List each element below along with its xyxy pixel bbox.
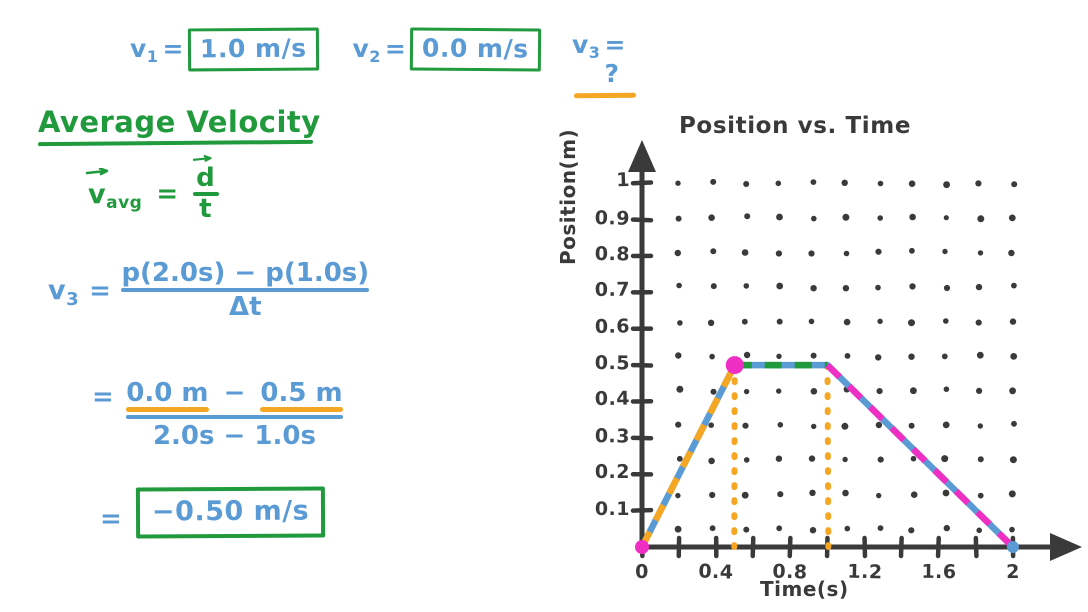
step1-expression: v 3 = p(2.0s) − p(1.0s) Δt (48, 258, 369, 322)
grid-dot (710, 525, 716, 531)
grid-dot (710, 179, 716, 185)
grid-dot (676, 386, 683, 393)
grid-dot (942, 249, 947, 254)
grid-dot (809, 455, 815, 461)
final-result: = −0.50 m/s (100, 487, 326, 538)
grid-dot (908, 527, 914, 533)
step2-fraction-bar (126, 415, 342, 419)
grid-dot (843, 285, 849, 291)
v2-value-box: 0.0 m/s (410, 27, 541, 71)
grid-dot (744, 213, 750, 219)
v1-value: 1.0 m/s (200, 34, 307, 64)
grid-dot (1010, 353, 1017, 360)
v2-subscript: 2 (369, 47, 381, 66)
step1-v-label: v (48, 275, 66, 306)
grid-dot (708, 214, 715, 221)
grid-dot (708, 422, 714, 428)
grid-dot (709, 354, 715, 360)
grid-dot (676, 216, 682, 222)
result-value: −0.50 m/s (152, 496, 309, 528)
x-tick (938, 538, 939, 556)
grid-dot (808, 250, 814, 256)
grid-dot (710, 248, 716, 254)
grid-dot (944, 525, 950, 531)
grid-dot (744, 457, 750, 463)
vector-arrow-icon (193, 155, 213, 163)
grid-dot (909, 423, 915, 429)
y-tick-label: 0.2 (564, 461, 630, 483)
given-v1: v 1 = 1.0 m/s (130, 28, 318, 71)
grid-dot (909, 214, 916, 221)
grid-dot (675, 526, 682, 533)
v2-value: 0.0 m/s (422, 34, 529, 64)
grid-dot (976, 320, 982, 326)
grid-dot (1009, 215, 1016, 222)
grid-dot (975, 180, 981, 186)
grid-dot (943, 318, 949, 324)
y-tick-label: 0.5 (564, 352, 630, 375)
grid-dot (908, 354, 914, 360)
grid-dot (743, 527, 749, 533)
v1-equals: = (162, 34, 183, 63)
y-tick-label: 0.7 (564, 279, 630, 302)
solution-panel: v 1 = 1.0 m/s v 2 = 0.0 m/s v 3 = ? (0, 0, 560, 612)
step1-numerator: p(2.0s) − p(1.0s) (121, 258, 369, 288)
position-vs-time-chart: Position vs. Time Position(m) Time(s) (560, 105, 1088, 612)
grid-dot (1009, 527, 1015, 533)
grid-dot (877, 215, 883, 221)
x-tick-label: 0 (617, 561, 667, 583)
grid-dot (711, 283, 717, 289)
y-tick-label: 0.3 (564, 424, 630, 447)
x-tick-label: 0.8 (765, 560, 816, 584)
section-heading-text: Average Velocity (38, 105, 321, 139)
grid-dot (744, 352, 750, 358)
grid-dot (776, 214, 783, 221)
chart-dot-grid (675, 179, 1018, 534)
given-v2: v 2 = 0.0 m/s (352, 28, 540, 71)
grid-dot (942, 354, 948, 360)
grid-dot (675, 181, 680, 186)
grid-dot (1011, 181, 1017, 187)
grid-dot (976, 528, 982, 534)
step2-equals: = (92, 382, 114, 412)
grid-dot (978, 493, 984, 499)
grid-dot (675, 493, 680, 498)
grid-dot (878, 525, 884, 531)
grid-dot (777, 319, 783, 325)
step2-numerator-b: 0.5 m (260, 378, 342, 408)
step2-denominator: 2.0s − 1.0s (153, 421, 316, 451)
grid-dot (841, 423, 848, 430)
y-tick (633, 220, 651, 221)
grid-dot (708, 320, 714, 326)
grid-dot (876, 493, 881, 498)
grid-dot (842, 214, 849, 221)
grid-dot (742, 319, 748, 325)
step2-numerator-b-wrap: 0.5 m (260, 378, 342, 408)
grid-dot (978, 456, 984, 462)
grid-dot (876, 422, 882, 428)
y-tick-label: 0.9 (564, 206, 631, 230)
x-tick (753, 538, 754, 556)
grid-dot (809, 319, 815, 325)
grid-dot (742, 423, 748, 429)
given-values-row: v 1 = 1.0 m/s v 2 = 0.0 m/s (130, 28, 541, 71)
v1-subscript: 1 (147, 47, 159, 66)
d-term: d (193, 165, 218, 192)
x-tick (976, 538, 977, 556)
y-tick-label: 0.4 (564, 388, 630, 411)
v1-value-box: 1.0 m/s (188, 28, 319, 72)
guide-at-1.0s (827, 365, 828, 547)
grid-dot (742, 492, 749, 499)
grid-dot (743, 181, 749, 187)
grid-dot (943, 422, 950, 429)
grid-dot (776, 525, 782, 531)
grid-dot (944, 386, 950, 392)
grid-dot (778, 422, 784, 428)
grid-dot (676, 283, 682, 289)
y-tick-label: 0.8 (564, 243, 630, 266)
section-heading: Average Velocity (38, 105, 321, 145)
grid-dot (677, 456, 683, 462)
x-tick-label: 1.2 (839, 560, 889, 583)
end-marker (1007, 541, 1019, 553)
grid-dot (844, 251, 850, 257)
grid-dot (1010, 456, 1017, 463)
grid-dot (776, 283, 783, 290)
grid-dot (776, 354, 781, 359)
grid-dot (978, 423, 983, 428)
grid-dot (811, 388, 818, 395)
grid-dot (977, 215, 984, 222)
grid-dot (978, 250, 983, 255)
grid-dot (976, 388, 982, 394)
grid-dot (675, 422, 681, 428)
grid-dot (842, 457, 847, 462)
grid-dot (943, 490, 950, 497)
v1-label: v (130, 34, 147, 63)
step2-numerator-a-wrap: 0.0 m (126, 378, 208, 408)
avg-formula-numerator: d (196, 163, 215, 193)
grid-dot (878, 181, 884, 187)
grid-dot (742, 249, 749, 256)
grid-dot (877, 319, 882, 324)
average-velocity-formula: vavg = d t (88, 165, 219, 224)
grid-dot (810, 527, 816, 533)
grid-dot (1009, 490, 1016, 497)
grid-dot (911, 491, 918, 498)
grid-dot (776, 181, 782, 187)
grid-dot (1008, 250, 1014, 256)
grid-dot (941, 455, 948, 462)
v3-question: = ? (604, 30, 632, 88)
grid-dot (809, 490, 815, 496)
grid-dot (909, 283, 915, 289)
grid-dot (677, 320, 683, 326)
grid-dot (878, 457, 884, 463)
step2-fraction: 0.0 m − 0.5 m 2.0s − 1.0s (126, 378, 342, 451)
grid-dot (811, 353, 817, 359)
grid-dot (910, 387, 917, 394)
unknown-v3: v 3 = ? (572, 30, 636, 98)
avg-formula-denominator: t (199, 196, 212, 223)
grid-dot (777, 491, 783, 497)
v3-orange-underline (574, 93, 636, 99)
grid-dot (943, 181, 950, 188)
x-tick-label: 1.6 (914, 561, 964, 584)
y-tick-label: 0.6 (564, 315, 630, 338)
v3-label: v (572, 30, 589, 59)
grid-dot (909, 248, 915, 254)
grid-dot (810, 285, 816, 291)
x-tick-label: 2 (988, 561, 1038, 584)
grid-dot (976, 284, 982, 290)
grid-dot (1010, 318, 1016, 324)
grid-dot (709, 492, 715, 498)
v-avg-subscript: avg (106, 193, 142, 213)
step2-numerator-a: 0.0 m (126, 378, 208, 408)
grid-dot (877, 388, 883, 394)
origin-marker (635, 540, 649, 554)
grid-dot (944, 285, 950, 291)
step2-expression: = 0.0 m − 0.5 m 2.0s − 1.0s (92, 378, 343, 451)
y-tick-label: 0.1 (564, 498, 630, 520)
step2-orange-underline-a (126, 407, 208, 412)
section-heading-underline (38, 140, 313, 146)
grid-dot (842, 180, 848, 186)
x-tick-label: 0.4 (691, 560, 742, 584)
step1-lhs: v 3 = (48, 275, 111, 306)
grid-dot (811, 216, 817, 222)
grid-dot (776, 388, 781, 393)
grid-dot (845, 353, 851, 359)
grid-dot (1011, 421, 1017, 427)
worksheet-canvas: v 1 = 1.0 m/s v 2 = 0.0 m/s v 3 = ? (0, 0, 1088, 612)
v3-subscript: 3 (589, 43, 601, 62)
y-tick (633, 183, 651, 184)
grid-dot (675, 250, 681, 256)
grid-dot (909, 180, 916, 187)
grid-dot (744, 283, 750, 289)
grid-dot (744, 389, 749, 394)
grid-dot (977, 352, 984, 359)
grid-dot (708, 458, 715, 465)
grid-dot (944, 215, 949, 220)
v-avg-label: v (88, 179, 106, 210)
grid-dot (875, 285, 881, 291)
step2-numerator-operator: − (224, 378, 246, 408)
step2-orange-underline-b (260, 407, 342, 412)
segment-3-falling (827, 365, 1012, 547)
y-tick (633, 510, 651, 511)
x-tick (790, 538, 791, 556)
grid-dot (844, 319, 851, 326)
grid-dot (711, 389, 717, 395)
x-tick (901, 538, 902, 556)
grid-dot (1011, 283, 1017, 289)
grid-dot (875, 354, 881, 360)
peak-marker (726, 356, 744, 374)
step1-denominator: Δt (229, 292, 262, 322)
step2-numerator: 0.0 m − 0.5 m (126, 378, 342, 408)
grid-dot (908, 319, 915, 326)
avg-formula-equals: = (156, 179, 178, 209)
grid-dot (911, 456, 917, 462)
grid-dot (776, 250, 782, 256)
v2-equals: = (385, 34, 406, 63)
v-avg-term: vavg (88, 179, 142, 210)
grid-dot (811, 424, 816, 429)
grid-dot (845, 526, 851, 532)
grid-dot (842, 490, 849, 497)
grid-dot (875, 249, 881, 255)
grid-dot (776, 456, 782, 462)
vector-arrow-icon (86, 168, 110, 176)
avg-formula-fraction: d t (193, 165, 219, 224)
v2-label: v (352, 34, 369, 63)
result-equals: = (100, 504, 122, 534)
grid-dot (1009, 387, 1016, 394)
chart-plot-area (560, 105, 1088, 612)
y-tick-label: 1 (564, 169, 631, 193)
step1-v-subscript: 3 (66, 289, 79, 310)
grid-dot (811, 179, 817, 185)
grid-dot (675, 352, 681, 358)
step1-fraction: p(2.0s) − p(1.0s) Δt (121, 258, 369, 322)
result-box: −0.50 m/s (136, 487, 325, 539)
step1-equals: = (89, 276, 111, 306)
